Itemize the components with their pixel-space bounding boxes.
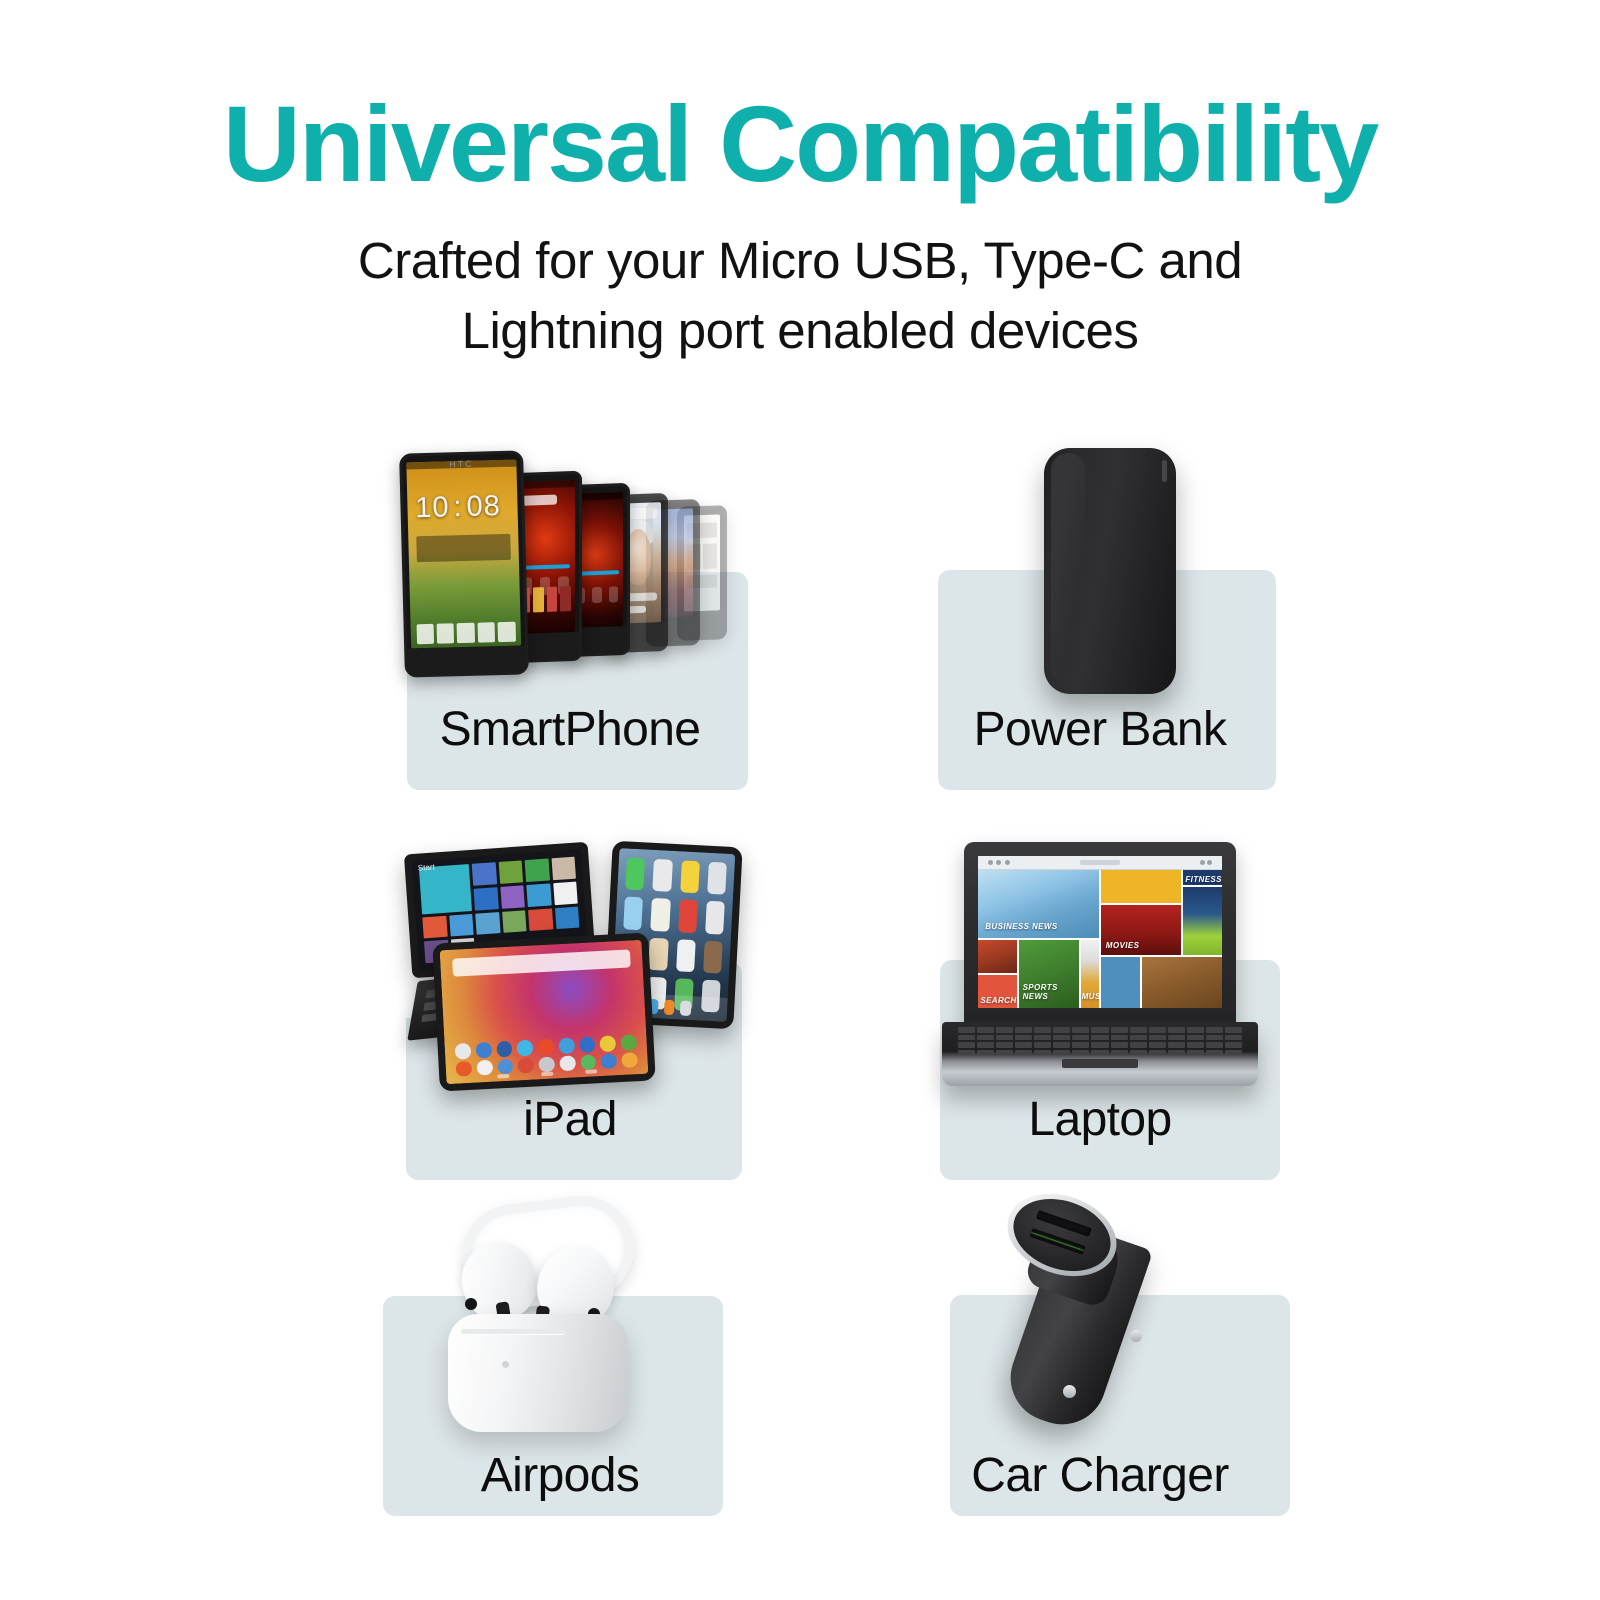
laptop-content-mosaic: BUSINESS NEWS FITNESS MOVIES bbox=[978, 870, 1222, 1008]
card-label-car-charger: Car Charger bbox=[910, 1448, 1290, 1504]
tablets-image: Start bbox=[380, 830, 760, 1090]
airpods-case bbox=[448, 1314, 628, 1432]
card-ipad[interactable]: Start bbox=[380, 830, 760, 1190]
card-laptop[interactable]: BUSINESS NEWS FITNESS MOVIES bbox=[910, 830, 1290, 1190]
phone-weather-widget bbox=[416, 534, 511, 562]
phone-1-screen: 10:08 bbox=[406, 460, 521, 649]
card-airpods[interactable]: Airpods bbox=[370, 1190, 750, 1530]
card-label-smartphone: SmartPhone bbox=[380, 702, 760, 758]
tablet-nexus bbox=[432, 932, 655, 1091]
phone-1-htc: 10:08 HTC bbox=[399, 450, 529, 677]
power-bank-body bbox=[1044, 448, 1176, 694]
car-charger-image bbox=[910, 1190, 1290, 1450]
card-smartphone[interactable]: 10:08 HTC SmartPhone bbox=[380, 440, 760, 800]
card-label-power-bank: Power Bank bbox=[910, 702, 1290, 758]
card-car-charger[interactable]: Car Charger bbox=[910, 1190, 1290, 1530]
phone-brand: HTC bbox=[449, 459, 474, 470]
laptop-screen: BUSINESS NEWS FITNESS MOVIES bbox=[978, 856, 1222, 1008]
airpod-left-sensor bbox=[465, 1298, 477, 1310]
nexus-screen bbox=[440, 940, 649, 1084]
laptop-base bbox=[942, 1022, 1258, 1086]
contact-pin-bottom bbox=[1063, 1385, 1076, 1398]
contact-pin-right bbox=[1130, 1330, 1142, 1342]
airpods-image bbox=[370, 1190, 750, 1440]
laptop-trackpad bbox=[1062, 1059, 1138, 1068]
phone-dock bbox=[416, 621, 516, 644]
laptop-image: BUSINESS NEWS FITNESS MOVIES bbox=[910, 830, 1290, 1090]
infographic-page: Universal Compatibility Crafted for your… bbox=[0, 0, 1600, 1600]
browser-chrome bbox=[978, 856, 1222, 870]
phone-fan-image: 10:08 HTC bbox=[380, 440, 760, 680]
card-label-laptop: Laptop bbox=[910, 1092, 1290, 1148]
card-label-airpods: Airpods bbox=[370, 1448, 750, 1504]
device-card-grid: 10:08 HTC SmartPhone bbox=[0, 0, 1600, 1600]
card-power-bank[interactable]: Power Bank bbox=[910, 440, 1290, 800]
power-bank-image bbox=[910, 440, 1290, 700]
laptop-keyboard bbox=[958, 1027, 1242, 1055]
phone-clock: 10:08 bbox=[415, 490, 510, 525]
windows-start-label: Start bbox=[418, 862, 435, 872]
card-label-ipad: iPad bbox=[380, 1092, 760, 1148]
laptop-lid: BUSINESS NEWS FITNESS MOVIES bbox=[964, 842, 1236, 1028]
